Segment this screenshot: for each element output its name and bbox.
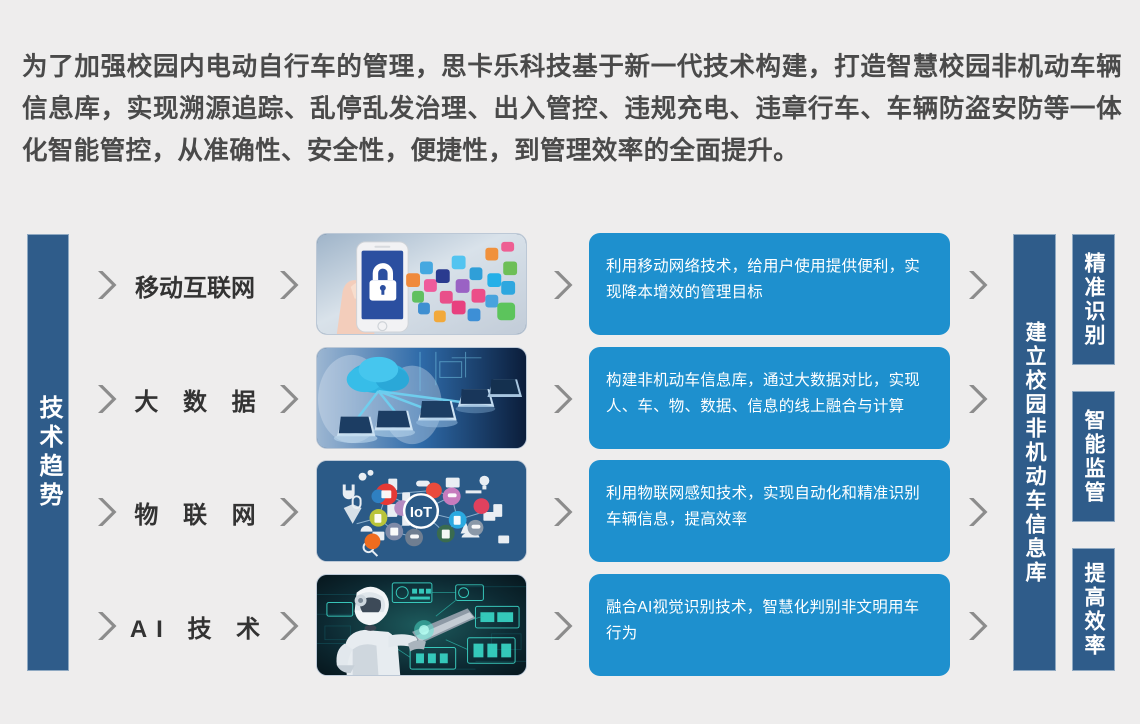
trend-row: 大 数 据 xyxy=(0,347,1140,451)
svg-text:IoT: IoT xyxy=(410,505,432,521)
chevron-right-icon xyxy=(963,495,989,529)
chevron-right-icon xyxy=(92,382,118,416)
outcome-chip-label: 提高效率 xyxy=(1083,562,1104,658)
outcome-chip-smart-supervision: 智能监管 xyxy=(1072,391,1115,522)
chevron-right-icon xyxy=(92,609,118,643)
right-outcome-bar: 建立校园非机动车信息库 xyxy=(1013,234,1056,671)
trend-row: 物 联 网 xyxy=(0,460,1140,564)
trend-row: AI 技 术 xyxy=(0,574,1140,678)
chevron-right-icon xyxy=(548,609,574,643)
chevron-right-icon xyxy=(274,495,300,529)
chevron-right-icon xyxy=(548,495,574,529)
chevron-right-icon xyxy=(963,382,989,416)
trend-description: 构建非机动车信息库，通过大数据对比，实现人、车、物、数据、信息的线上融合与计算 xyxy=(589,347,950,449)
intro-paragraph: 为了加强校园内电动自行车的管理，思卡乐科技基于新一代技术构建，打造智慧校园非机动… xyxy=(22,46,1122,172)
trend-label: AI 技 术 xyxy=(120,574,270,678)
outcome-chip-improve-efficiency: 提高效率 xyxy=(1072,548,1115,671)
ai-robot-illustration xyxy=(316,574,527,676)
big-data-cloud-illustration xyxy=(316,347,527,449)
trend-description: 利用物联网感知技术，实现自动化和精准识别车辆信息，提高效率 xyxy=(589,460,950,562)
chevron-right-icon xyxy=(548,382,574,416)
iot-network-illustration: IoT xyxy=(316,460,527,562)
trend-label: 大 数 据 xyxy=(120,347,270,451)
chevron-right-icon xyxy=(274,609,300,643)
chevron-right-icon xyxy=(274,268,300,302)
trend-label: 移动互联网 xyxy=(120,233,270,337)
outcome-chip-label: 精准识别 xyxy=(1083,252,1104,348)
chevron-right-icon xyxy=(963,609,989,643)
trend-row: 移动互联网 xyxy=(0,233,1140,337)
chevron-right-icon xyxy=(92,495,118,529)
chevron-right-icon xyxy=(274,382,300,416)
outcome-chip-label: 智能监管 xyxy=(1083,409,1104,505)
trend-description: 利用移动网络技术，给用户使用提供便利，实现降本增效的管理目标 xyxy=(589,233,950,335)
outcome-chip-precise-recognition: 精准识别 xyxy=(1072,234,1115,365)
chevron-right-icon xyxy=(92,268,118,302)
mobile-internet-illustration xyxy=(316,233,527,335)
trend-description: 融合AI视觉识别技术，智慧化判别非文明用车行为 xyxy=(589,574,950,676)
right-outcome-label: 建立校园非机动车信息库 xyxy=(1024,321,1045,585)
trend-label: 物 联 网 xyxy=(120,460,270,564)
chevron-right-icon xyxy=(548,268,574,302)
chevron-right-icon xyxy=(963,268,989,302)
infographic-page: 为了加强校园内电动自行车的管理，思卡乐科技基于新一代技术构建，打造智慧校园非机动… xyxy=(0,0,1140,724)
